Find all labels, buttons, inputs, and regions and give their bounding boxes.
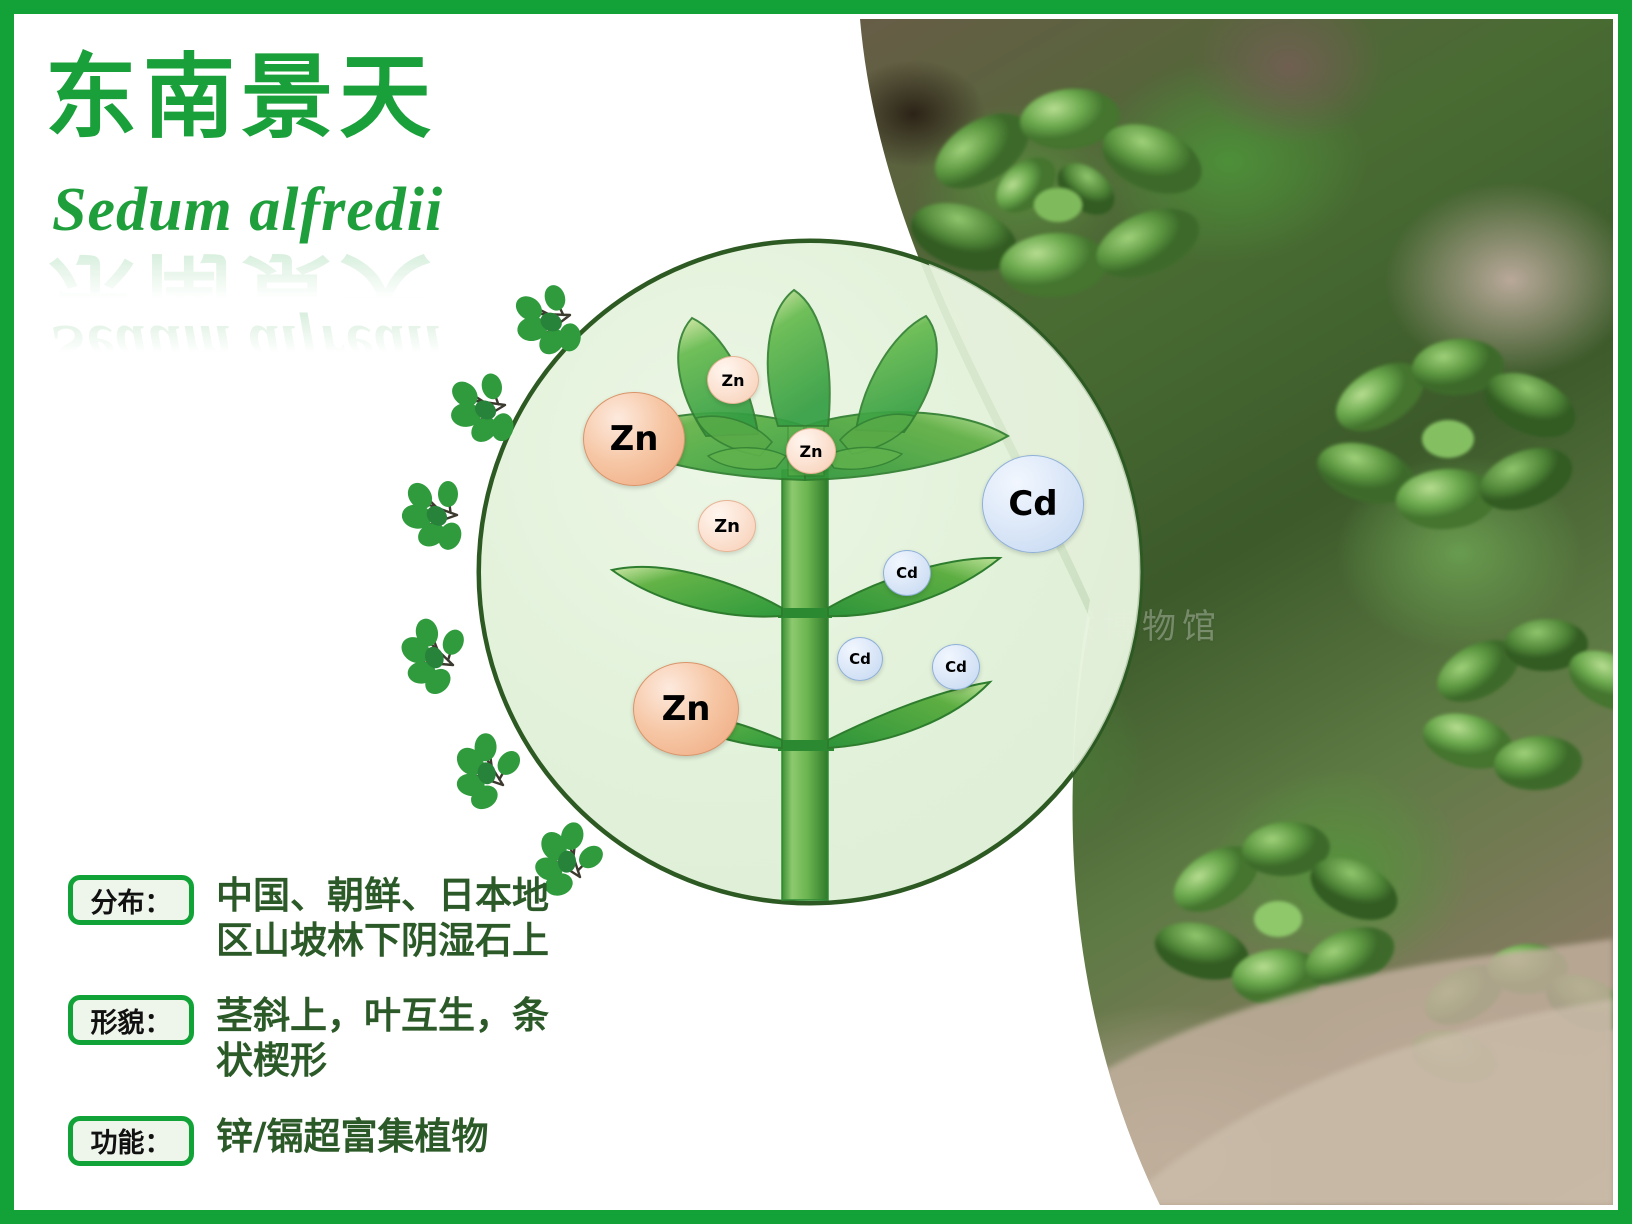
sprig-5 <box>434 720 529 821</box>
latin-name: Sedum alfredii <box>52 175 443 246</box>
page-title: 东南景天 <box>45 52 437 144</box>
info-tag-function: 功能： <box>68 1116 194 1166</box>
info-list: 分布： 中国、朝鲜、日本地区山坡林下阴湿石上 形貌： 茎斜上，叶互生，条状楔形 … <box>68 873 688 1196</box>
sprig-3 <box>395 473 469 560</box>
bubble-cd-small-mid: Cd <box>837 637 883 681</box>
info-row-function: 功能： 锌/镉超富集植物 <box>68 1114 688 1166</box>
sprig-1 <box>500 275 593 374</box>
poster-root: 自然博物馆 <box>0 0 1632 1224</box>
sprig-2 <box>436 364 524 460</box>
info-text-morphology: 茎斜上，叶互生，条状楔形 <box>216 993 561 1083</box>
plant-leaf-lower-right <box>828 682 990 748</box>
latin-name-reflection: Sedum alfredii <box>52 310 443 381</box>
info-row-morphology: 形貌： 茎斜上，叶互生，条状楔形 <box>68 993 688 1083</box>
bubble-cd-large: Cd <box>982 455 1084 553</box>
plant-stem <box>778 470 834 900</box>
bubble-zn-small-center: Zn <box>786 428 836 474</box>
info-row-distribution: 分布： 中国、朝鲜、日本地区山坡林下阴湿石上 <box>68 873 688 963</box>
info-text-distribution: 中国、朝鲜、日本地区山坡林下阴湿石上 <box>216 873 566 963</box>
bubble-zn-medium-stem: Zn <box>698 500 756 552</box>
info-tag-distribution: 分布： <box>68 875 194 925</box>
bubble-cd-small-lower: Cd <box>932 644 980 690</box>
info-tag-morphology: 形貌： <box>68 995 194 1045</box>
bubble-zn-small-petal: Zn <box>707 356 759 404</box>
sprig-4 <box>395 609 471 703</box>
info-text-function: 锌/镉超富集植物 <box>216 1114 489 1159</box>
bubble-cd-small-upper: Cd <box>883 550 931 596</box>
